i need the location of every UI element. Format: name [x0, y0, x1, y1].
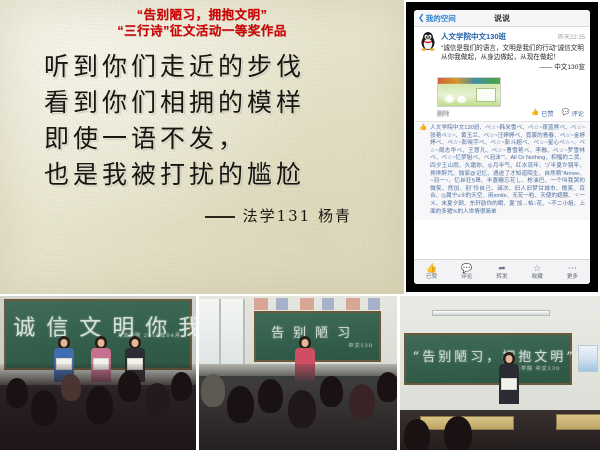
- toolbar-item-comment[interactable]: 💬 评论: [449, 263, 484, 281]
- paper-sheet: [501, 378, 517, 390]
- audience-head: [444, 416, 472, 450]
- poem-signature-text: 法学131 杨青: [243, 207, 352, 225]
- post-action-right-group: 👍 已赞 💬 评论: [531, 109, 584, 118]
- toolbar-item-favorite-label: 收藏: [532, 274, 543, 280]
- audience-head: [258, 379, 283, 413]
- post-header: 人文学院中文130班 昨天22:35: [441, 31, 585, 42]
- post-timestamp: 昨天22:35: [558, 32, 585, 41]
- poster-title-line1: “告别陋习，拥抱文明”: [0, 0, 404, 23]
- speech-contestant: [496, 352, 522, 410]
- back-button-label: 我的空间: [426, 13, 456, 24]
- thumbs-up-icon: 👍: [531, 110, 539, 117]
- window-mullion: [219, 299, 221, 364]
- comment-icon: 💬: [449, 263, 484, 273]
- audience-crowd: [0, 364, 196, 450]
- audience-head: [404, 419, 430, 450]
- toolbar-item-like[interactable]: 👍 已赞: [414, 263, 449, 281]
- thumbs-up-icon: 👍: [419, 125, 427, 216]
- post-main: 人文学院中文130班 昨天22:35 “诚信是我们的语言，文明是我们的行动”诚信…: [441, 31, 585, 72]
- blackboard-signature: 中文130: [348, 342, 373, 349]
- post-text-body: “诚信是我们的语言，文明是我们的行动”诚信文明从你我做起，从身边做起，从现在做起…: [441, 45, 584, 61]
- poem-signature: 法学131 杨青: [0, 205, 404, 226]
- classroom-window: [199, 299, 245, 364]
- back-button[interactable]: ❮ 我的空间: [418, 13, 456, 24]
- phone-screenshot-frame: ❮ 我的空间 说说: [406, 2, 598, 292]
- toolbar-item-more[interactable]: ⋯ 更多: [555, 263, 590, 281]
- comment-icon: 💬: [562, 110, 570, 117]
- audience-head: [31, 390, 57, 426]
- poem-line-4: 也是我被打扰的尴尬: [44, 157, 404, 193]
- poem-line-3: 即使一语不发，: [44, 121, 404, 157]
- qzone-navbar: ❮ 我的空间 说说: [414, 10, 590, 27]
- face-shape: [60, 339, 67, 347]
- photo-three-students-reading: 诚信文明你我同行 人文学院 2015年04月: [0, 296, 196, 450]
- face-shape: [506, 355, 513, 363]
- face-shape: [302, 339, 309, 347]
- post-image-thumbnail[interactable]: [437, 77, 501, 107]
- face-shape: [98, 339, 105, 347]
- audience-head: [201, 374, 225, 407]
- audience-head: [86, 386, 113, 424]
- signature-dash-icon: [205, 216, 235, 218]
- post-text: “诚信是我们的语言，文明是我们的行动”诚信文明从你我做起，从身边做起，从现在做起…: [441, 44, 585, 72]
- feed-post: 人文学院中文130班 昨天22:35 “诚信是我们的语言，文明是我们的行动”诚信…: [414, 27, 590, 74]
- blackboard: “告别陋习，拥抱文明”演讲比赛 人文学院 中文130: [404, 333, 572, 385]
- bottom-toolbar: 👍 已赞 💬 评论 ➦ 转发 ☆ 收藏 ⋯ 更多: [414, 259, 590, 284]
- thumbnail-banner-strip: [438, 78, 500, 84]
- poem-body: 听到你们走近的步伐 看到你们相拥的模样 即使一语不发， 也是我被打扰的尴尬: [0, 49, 404, 193]
- toolbar-item-share[interactable]: ➦ 转发: [484, 263, 519, 281]
- more-icon: ⋯: [555, 263, 590, 273]
- qq-penguin-avatar[interactable]: [419, 31, 437, 51]
- thumbnail-flower-shape: [444, 94, 455, 103]
- audience-head: [288, 390, 316, 428]
- poster-title-line2: “三行诗”征文活动一等奖作品: [0, 23, 404, 39]
- audience-head: [145, 383, 170, 417]
- front-desks: [400, 410, 600, 450]
- star-icon: ☆: [520, 263, 555, 273]
- thumbs-up-icon: 👍: [414, 263, 449, 273]
- post-signoff: —— 中文130宣: [441, 63, 585, 72]
- feed-scroll-area[interactable]: 人文学院中文130班 昨天22:35 “诚信是我们的语言，文明是我们的行动”诚信…: [414, 27, 590, 259]
- photo-row: 诚信文明你我同行 人文学院 2015年04月: [0, 296, 600, 450]
- post-author[interactable]: 人文学院中文130班: [441, 31, 506, 42]
- screenshot-root: “告别陋习，拥抱文明” “三行诗”征文活动一等奖作品 听到你们走近的步伐 看到你…: [0, 0, 600, 450]
- toolbar-item-comment-label: 评论: [461, 274, 472, 280]
- qzone-app-screen: ❮ 我的空间 说说: [414, 10, 590, 284]
- audience-head: [227, 386, 254, 423]
- bench-shape: [556, 414, 600, 430]
- face-shape: [131, 339, 138, 347]
- poster-title: “告别陋习，拥抱文明” “三行诗”征文活动一等奖作品: [0, 0, 404, 39]
- likers-list-text[interactable]: 人文学院中文130班、ベ☆~韩米雪ベ、ベ☆~夜蓝熊ベ、ベ☆~张艳ベ☆~、黄玉兰、…: [430, 125, 585, 216]
- comment-button[interactable]: 💬 评论: [562, 109, 584, 118]
- audience-head: [171, 372, 192, 401]
- audience-crowd: [199, 364, 397, 450]
- audience-head: [320, 376, 343, 407]
- toolbar-item-like-label: 已赞: [426, 274, 437, 280]
- post-action-row: 删除 👍 已赞 💬 评论: [414, 107, 590, 122]
- poem-poster-panel: “告别陋习，拥抱文明” “三行诗”征文活动一等奖作品 听到你们走近的步伐 看到你…: [0, 0, 404, 294]
- likers-list: 👍 人文学院中文130班、ベ☆~韩米雪ベ、ベ☆~夜蓝熊ベ、ベ☆~张艳ベ☆~、黄玉…: [414, 122, 590, 220]
- comment-button-label: 评论: [572, 109, 584, 118]
- fluorescent-light: [432, 310, 550, 316]
- toolbar-item-favorite[interactable]: ☆ 收藏: [520, 263, 555, 281]
- audience-head: [61, 374, 81, 401]
- audience-head: [6, 378, 28, 408]
- audience-head: [118, 371, 141, 402]
- wall-poster: [578, 345, 598, 372]
- like-button[interactable]: 👍 已赞: [531, 109, 553, 118]
- toolbar-item-more-label: 更多: [567, 274, 578, 280]
- like-button-label: 已赞: [541, 109, 553, 118]
- audience-head: [377, 372, 397, 402]
- audience-head: [349, 384, 375, 419]
- delete-button[interactable]: 删除: [437, 109, 449, 118]
- share-icon: ➦: [484, 263, 519, 273]
- photo-speech-contest: “告别陋习，拥抱文明”演讲比赛 人文学院 中文130: [400, 296, 600, 450]
- toolbar-item-share-label: 转发: [496, 274, 507, 280]
- chevron-left-icon: ❮: [418, 14, 425, 22]
- photo-classroom-presenter: 告别陋习 中文130: [199, 296, 397, 450]
- poem-line-2: 看到你们相拥的模样: [44, 85, 404, 121]
- wall-decoration-strip: [254, 298, 381, 310]
- poem-line-1: 听到你们走近的步伐: [44, 49, 404, 85]
- thumbnail-card-shape: [476, 88, 496, 102]
